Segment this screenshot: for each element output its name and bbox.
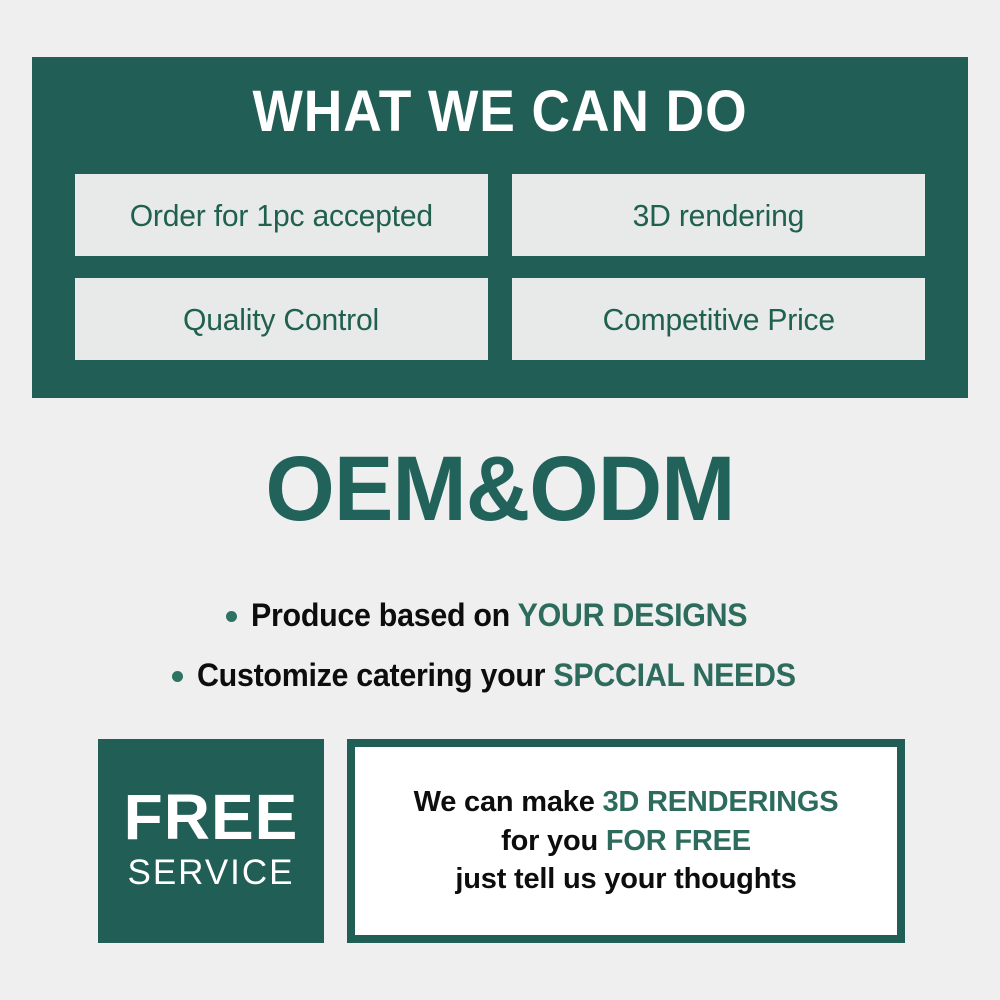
free-service-badge: FREE SERVICE bbox=[98, 739, 324, 943]
note-line-3: just tell us your thoughts bbox=[455, 860, 796, 899]
bullet-lead: Produce based on bbox=[251, 597, 518, 633]
bullet-text: Produce based on YOUR DESIGNS bbox=[251, 599, 747, 631]
note-line-2-lead: for you bbox=[501, 825, 606, 857]
free-rendering-note-box: We can make 3D RENDERINGS for you FOR FR… bbox=[347, 739, 905, 943]
bullet-highlight: SPCCIAL NEEDS bbox=[554, 657, 796, 693]
note-line-1-highlight: 3D RENDERINGS bbox=[603, 786, 839, 818]
note-line-1: We can make 3D RENDERINGS bbox=[414, 783, 839, 822]
what-we-can-do-panel: WHAT WE CAN DO Order for 1pc accepted 3D… bbox=[32, 57, 968, 398]
feature-label: Quality Control bbox=[184, 304, 380, 335]
free-label: FREE bbox=[124, 786, 299, 849]
note-line-2: for you FOR FREE bbox=[501, 822, 751, 861]
feature-box-competitive-price[interactable]: Competitive Price bbox=[512, 278, 925, 360]
panel-title: WHAT WE CAN DO bbox=[69, 83, 930, 141]
bullet-dot-icon bbox=[172, 671, 183, 682]
feature-label: Order for 1pc accepted bbox=[130, 200, 433, 231]
bullet-text: Customize catering your SPCCIAL NEEDS bbox=[197, 659, 796, 691]
feature-box-order-for-1pc[interactable]: Order for 1pc accepted bbox=[75, 174, 488, 256]
list-item: Customize catering your SPCCIAL NEEDS bbox=[0, 645, 1000, 705]
note-line-2-highlight: FOR FREE bbox=[606, 825, 751, 857]
feature-label: 3D rendering bbox=[633, 200, 805, 231]
feature-box-grid: Order for 1pc accepted 3D rendering Qual… bbox=[75, 174, 925, 360]
feature-box-quality-control[interactable]: Quality Control bbox=[75, 278, 488, 360]
oem-odm-heading: OEM&ODM bbox=[15, 443, 985, 535]
service-label: SERVICE bbox=[127, 849, 294, 896]
bullet-lead: Customize catering your bbox=[197, 657, 553, 693]
feature-box-3d-rendering[interactable]: 3D rendering bbox=[512, 174, 925, 256]
feature-label: Competitive Price bbox=[602, 304, 834, 335]
note-line-1-lead: We can make bbox=[414, 786, 603, 818]
oem-bullet-list: Produce based on YOUR DESIGNS Customize … bbox=[0, 585, 1000, 705]
bullet-highlight: YOUR DESIGNS bbox=[518, 597, 748, 633]
bullet-dot-icon bbox=[226, 611, 237, 622]
list-item: Produce based on YOUR DESIGNS bbox=[0, 585, 1000, 645]
